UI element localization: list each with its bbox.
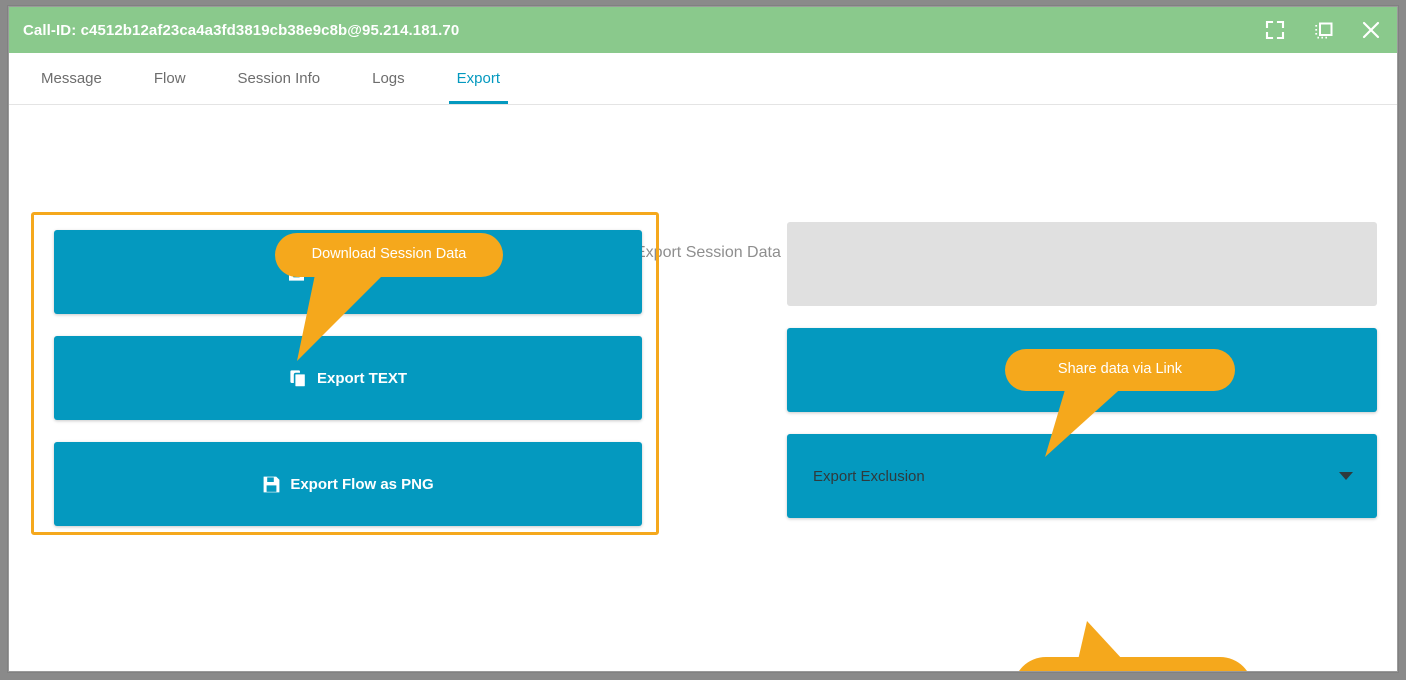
share-data-via-link-callout-text: Share data via Link	[1058, 360, 1182, 380]
tab-flow[interactable]: Flow	[128, 53, 212, 104]
share-callout-tail	[1029, 383, 1189, 463]
export-text-label: Export TEXT	[317, 370, 407, 387]
export-flow-png-button[interactable]: Export Flow as PNG	[54, 442, 642, 526]
export-exclusion-label: Export Exclusion	[813, 468, 925, 485]
share-data-via-link-callout: Share data via Link	[1005, 349, 1235, 391]
exclude-packets-callout: Exclude undesired packets by entity	[1013, 657, 1253, 672]
download-callout-tail	[275, 265, 475, 365]
save-floppy-icon	[262, 475, 281, 494]
download-session-data-callout-text: Download Session Data	[312, 245, 467, 265]
copy-documents-icon	[289, 369, 308, 388]
exclude-packets-callout-text: Exclude undesired packets by entity	[1035, 670, 1231, 672]
tab-export-label: Export	[457, 70, 500, 87]
fullscreen-icon[interactable]	[1263, 18, 1287, 42]
share-placeholder-box	[787, 222, 1377, 306]
tab-bar: Message Flow Session Info Logs Export	[9, 53, 1397, 105]
tab-logs-label: Logs	[372, 70, 405, 87]
window-titlebar: Call-ID: c4512b12af23ca4a3fd3819cb38e9c8…	[9, 7, 1397, 53]
window-controls	[1263, 7, 1383, 53]
tab-export[interactable]: Export	[431, 53, 526, 104]
export-flow-png-label: Export Flow as PNG	[290, 476, 433, 493]
tab-flow-label: Flow	[154, 70, 186, 87]
close-icon[interactable]	[1359, 18, 1383, 42]
tab-session-info[interactable]: Session Info	[212, 53, 347, 104]
download-session-data-callout: Download Session Data	[275, 233, 503, 277]
session-window: Call-ID: c4512b12af23ca4a3fd3819cb38e9c8…	[8, 6, 1398, 672]
export-panel: Export Session Data Export PCAP	[9, 105, 1397, 672]
tab-message[interactable]: Message	[15, 53, 128, 104]
tab-logs[interactable]: Logs	[346, 53, 431, 104]
window-title: Call-ID: c4512b12af23ca4a3fd3819cb38e9c8…	[23, 22, 459, 39]
tab-message-label: Message	[41, 70, 102, 87]
chevron-down-icon	[1339, 472, 1353, 480]
popout-window-icon[interactable]	[1311, 18, 1335, 42]
tab-session-info-label: Session Info	[238, 70, 321, 87]
